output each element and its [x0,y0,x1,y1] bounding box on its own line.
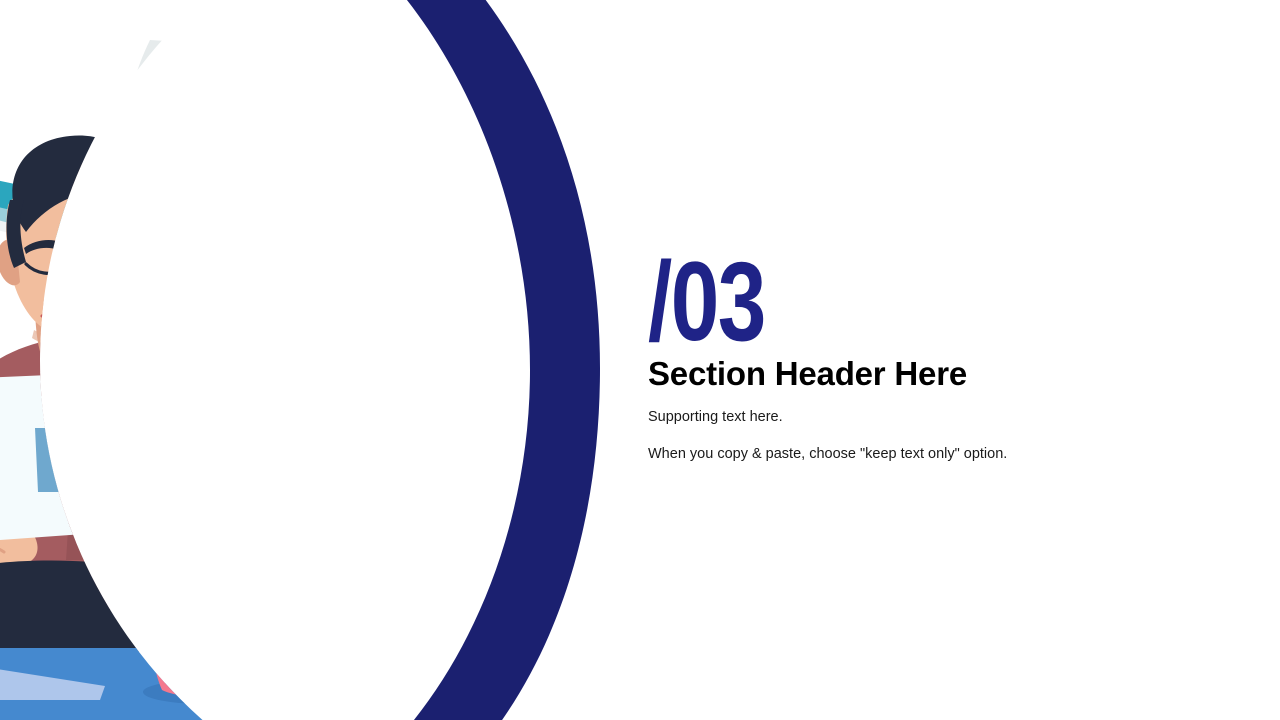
mint-stem-center [249,420,282,620]
mint-leaf-top-notch [336,230,405,300]
man-eyebrow-right [80,243,114,259]
steel-blue-leaf-middle-left [102,320,210,480]
supporting-text-line-1: Supporting text here. [648,408,1208,427]
gray-leaf-back-lower [304,380,490,520]
mug-crease-2 [228,606,242,686]
teal-band-mid [140,450,400,510]
gray-leaf-back-mid [245,150,500,300]
navy-crescent-arc [372,0,600,720]
paper-back-sheet [40,372,258,498]
paper-front-sheet [0,372,140,540]
mug-rim-inner [150,570,264,598]
illustration-artwork [0,0,600,720]
man-eye-right [82,266,116,274]
chart-bar-2 [70,452,101,492]
mug-highlight [159,600,180,682]
teal-leaf-middle-left [140,298,300,472]
steel-blue-leaf-upper-right [332,158,510,341]
mug-handle [252,601,292,676]
teal-fill-lower-left [140,500,250,670]
mug-crease-1 [209,606,218,688]
man-hand-right-finger-line-2 [124,533,190,544]
man-neck [35,296,95,362]
content-block: /03 Section Header Here Supporting text … [648,250,1208,463]
chart-bar-3 [104,470,132,492]
mug-rim [150,584,264,606]
illustration-panel [0,0,600,720]
man-hand-right-finger-line [126,514,192,526]
man-hand-right [107,495,206,564]
dark-navy-leaf-lower-right [340,405,498,570]
man-mouth [42,316,84,322]
mint-leaf-top-vein [296,30,360,270]
supporting-text-line-2: When you copy & paste, choose "keep text… [648,445,1208,464]
man-chin-shadow [32,326,96,346]
slide-root: /03 Section Header Here Supporting text … [0,0,1280,720]
pink-mug [143,570,292,704]
man-hair [12,135,142,236]
section-number: /03 [648,250,1085,353]
steel-blue-leaf-bottom [225,538,445,692]
man-shirt-shadow [120,344,212,610]
bar-chart-on-paper [35,428,132,492]
man-lap [0,560,235,652]
mint-leaf-top [166,22,430,470]
gray-leaf-back-left [117,40,235,330]
report-papers [0,372,258,540]
mug-body [150,584,265,698]
gray-leaf-back-right [334,70,450,265]
steel-blue-leaf-upper-right-lower [335,310,500,393]
paper-rule-line [106,408,196,442]
steel-leaf-upper-right-highlight [355,168,470,250]
mint-stem-right [415,230,496,455]
teal-wedge-upper-right [300,35,470,250]
dark-navy-leaf-center-stem [378,512,397,720]
chart-bar-1 [35,428,68,492]
mint-stem-right-2 [377,390,420,580]
man-hand-right-finger-line-3 [128,552,188,562]
steel-blue-leaf-bottom-notch [258,640,330,695]
dark-navy-leaf-lower-left [165,468,308,616]
dark-navy-leaf-center [244,204,462,520]
man-nose [46,276,66,308]
